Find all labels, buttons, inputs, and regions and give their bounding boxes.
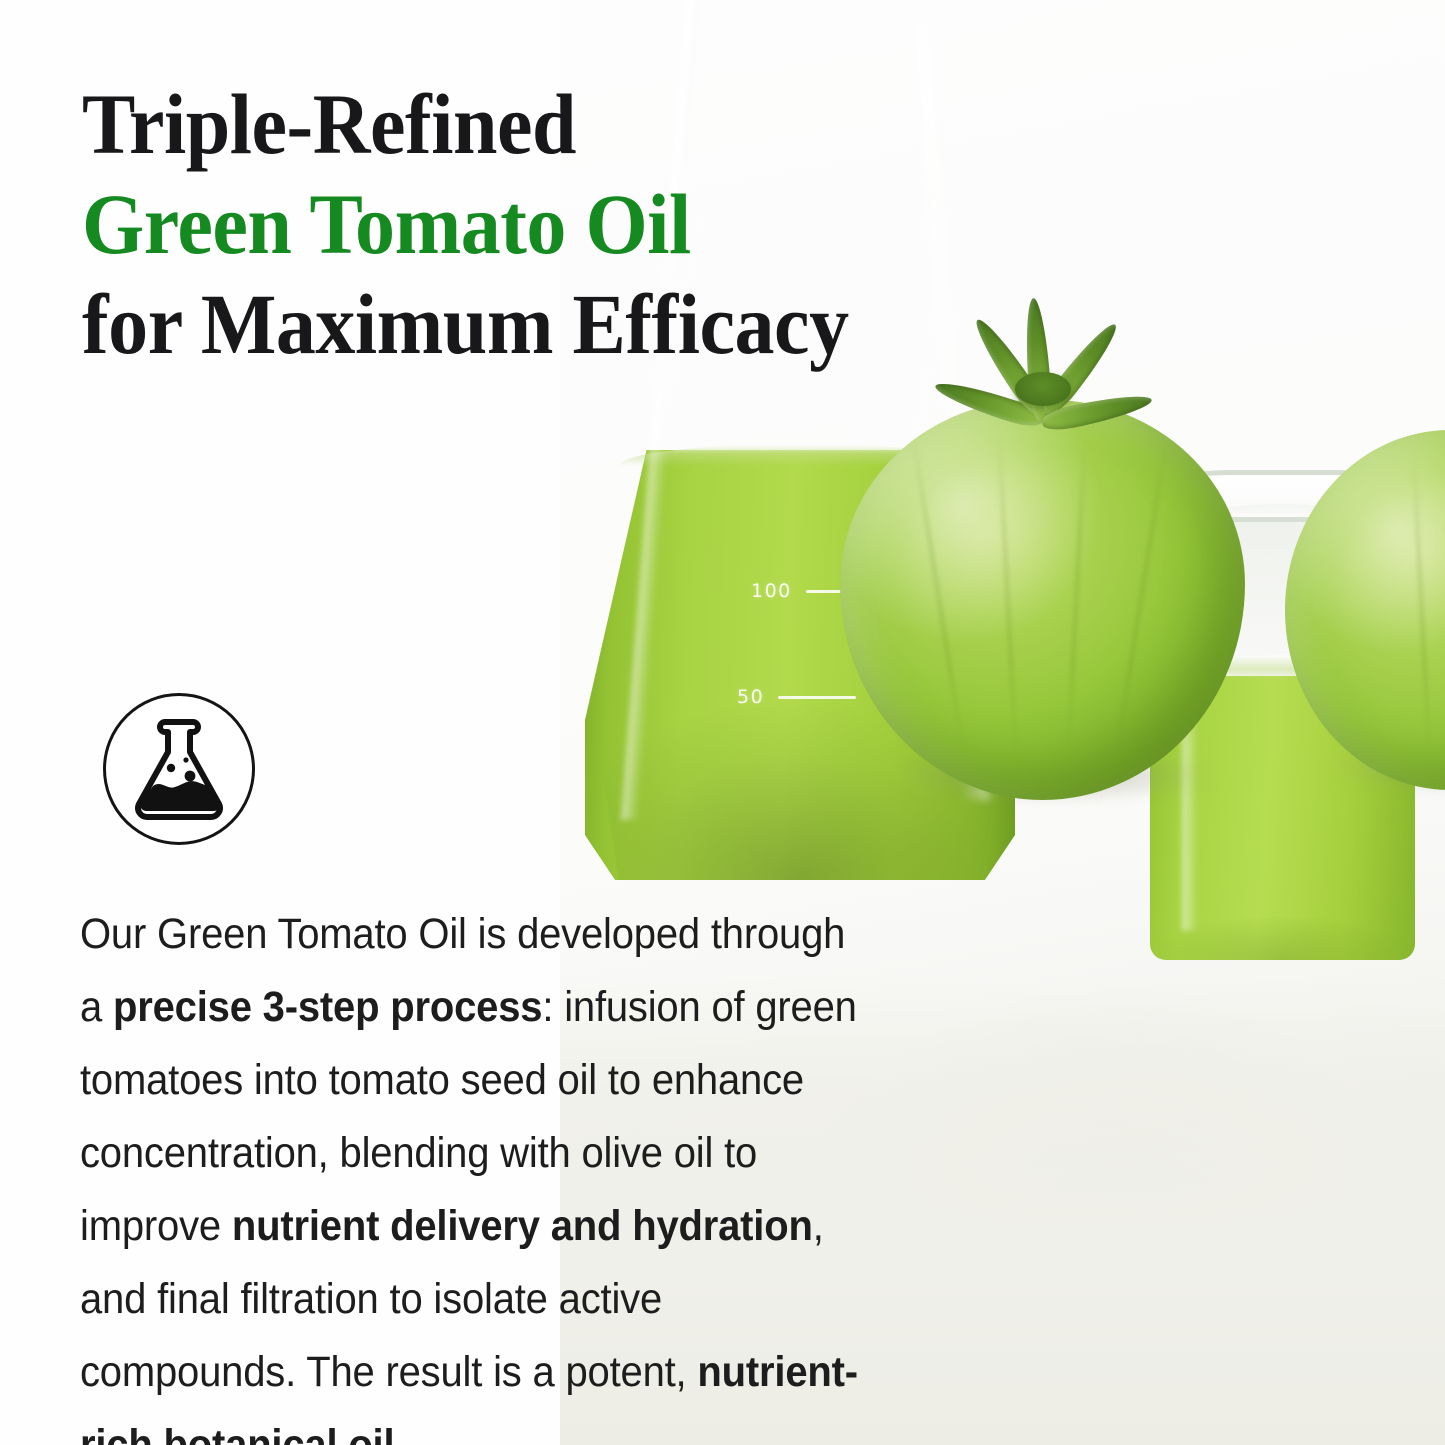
headline-line-3: for Maximum Efficacy (82, 276, 849, 372)
flask-bubble (167, 764, 175, 772)
body-paragraph: Our Green Tomato Oil is developed throug… (80, 898, 866, 1445)
green-tomato-front (840, 400, 1245, 800)
flask-icon (103, 693, 255, 845)
green-tomato-right (1285, 430, 1445, 790)
graduation-label-100: 100 (751, 580, 792, 602)
beaker-base-shadow (1158, 918, 1407, 960)
headline-line-1: Triple-Refined (82, 76, 576, 172)
headline-line-2-accent: Green Tomato Oil (82, 176, 691, 272)
tomato-lobe-crease (912, 434, 966, 758)
flask-bubble (183, 757, 188, 762)
body-text-run: . (394, 1421, 405, 1445)
tomato-lobe-crease (1413, 459, 1431, 754)
poster-root: 100 50 (0, 0, 1445, 1445)
tomato-front-body (840, 400, 1245, 800)
tomato-lobe-crease (997, 432, 1017, 760)
tomato-lobe-crease (1114, 434, 1168, 758)
flask-bubble (185, 771, 196, 782)
page-title: Triple-Refined Green Tomato Oil for Maxi… (82, 74, 900, 374)
graduation-label-50: 50 (737, 686, 764, 708)
tomato-lobe-crease (1066, 432, 1086, 760)
body-emphasis: nutrient delivery and hydration (232, 1202, 813, 1250)
tomato-calyx-center (1015, 372, 1071, 406)
flask-graduation-50: 50 (737, 686, 856, 708)
body-emphasis: precise 3-step process (113, 983, 542, 1031)
tomato-right-body (1285, 430, 1445, 790)
